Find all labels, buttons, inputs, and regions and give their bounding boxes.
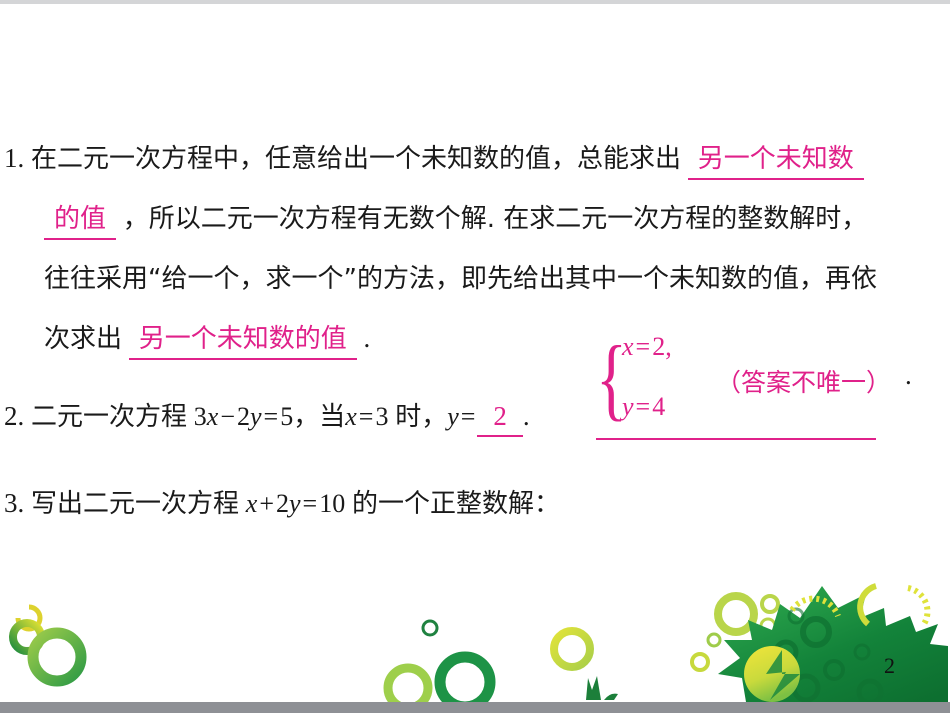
question-1-number: 1. (4, 143, 24, 173)
question-2-text-b: ，当 (293, 402, 345, 432)
ring-small-1 (13, 623, 41, 651)
ring-tiny-1 (423, 621, 437, 635)
question-3-period: . (905, 360, 912, 391)
q3-plus: + (257, 489, 276, 518)
ring-medium-2 (388, 668, 428, 702)
q2-cond-eq: = (357, 402, 376, 431)
leaf-ring-2 (776, 642, 796, 662)
sol-x-eq: = (634, 332, 653, 361)
question-3-answer-underline (596, 438, 876, 440)
q3-var1: x (246, 489, 258, 518)
question-1-answer-3[interactable]: 另一个未知数的值 (129, 322, 357, 360)
q2-var1: x (207, 402, 219, 431)
leaf-ring-4 (855, 645, 869, 659)
q2-cond-var: x (345, 402, 357, 431)
q2-equals: = (262, 402, 281, 431)
leaf-ring-7 (789, 609, 803, 623)
question-1-text-d: 次求出 (44, 324, 122, 354)
question-3-text-a: 写出二元一次方程 (31, 489, 239, 519)
footer-decoration (0, 582, 950, 702)
sol-y-var: y (622, 392, 634, 421)
leaf-ring-1 (803, 619, 829, 645)
question-3-answer-system[interactable]: { x=2, y=4 （答案不唯一） (596, 330, 896, 435)
q2-cond-val: 3 (375, 402, 388, 431)
question-1-answer-1[interactable]: 另一个未知数 (688, 142, 864, 180)
question-1-line-3: 往往采用“给一个，求一个”的方法，即先给出其中一个未知数的值，再依 (44, 248, 877, 309)
leaf-ring-5 (794, 676, 818, 700)
sol-x-val: 2 (652, 332, 665, 361)
ring-medium-5 (718, 596, 754, 632)
ring-medium-4 (554, 631, 590, 667)
arc-2 (860, 586, 876, 624)
grass-tuft (586, 676, 601, 700)
ring-tiny-5 (692, 654, 708, 670)
question-1-period: . (364, 323, 371, 353)
sol-y-val: 4 (652, 392, 665, 421)
question-3-text-b: 的一个正整数解： (352, 489, 560, 519)
question-2-number: 2. (4, 401, 24, 431)
question-1-line-1: 1. 在二元一次方程中，任意给出一个未知数的值，总能求出 另一个未知数 (4, 128, 864, 189)
question-2-line: 2. 二元一次方程 3x−2y=5，当x=3 时，y=2. (4, 386, 530, 447)
q3-coef2: 2 (276, 489, 289, 518)
yellow-sphere (744, 646, 800, 702)
ring-tiny-4 (708, 634, 720, 646)
sol-y-eq: = (634, 392, 653, 421)
page-number: 2 (884, 653, 895, 679)
question-1-text-b: ，所以二元一次方程有无数个解. 在求二元一次方程的整数解时， (123, 204, 868, 234)
ring-medium-3 (440, 657, 490, 702)
top-chrome-bar (0, 0, 950, 4)
q2-rhs: 5 (280, 402, 293, 431)
question-1-line-4: 次求出 另一个未知数的值 . (44, 308, 370, 369)
q2-ask-eq: = (459, 402, 478, 431)
ring-tiny-2 (762, 596, 778, 612)
q2-ask-var: y (447, 402, 459, 431)
question-2-answer[interactable]: 2 (477, 399, 523, 437)
q3-var2: y (289, 489, 301, 518)
maple-leaf-icon (718, 586, 948, 702)
sol-x-var: x (622, 332, 634, 361)
q2-coef2: 2 (237, 402, 250, 431)
solution-x-line: x=2, (622, 332, 672, 362)
question-2-period: . (523, 401, 530, 431)
q2-coef1: 3 (194, 402, 207, 431)
question-2-text-a: 二元一次方程 (31, 402, 187, 432)
solution-y-line: y=4 (622, 392, 665, 422)
question-2-text-c: 时， (395, 402, 447, 432)
leaf-overlay-shape (766, 650, 800, 700)
dotted-arc-1 (792, 599, 838, 616)
question-1-answer-2[interactable]: 的值 (44, 202, 116, 240)
bottom-chrome-bar (0, 702, 950, 713)
leaf-ring-3 (825, 661, 843, 679)
sol-x-comma: , (665, 332, 672, 361)
leaf-ring-6 (859, 681, 881, 702)
question-1-text-a: 在二元一次方程中，任意给出一个未知数的值，总能求出 (31, 144, 681, 174)
q2-minus: − (218, 402, 237, 431)
question-1-text-c: 往往采用“给一个，求一个”的方法，即先给出其中一个未知数的值，再依 (44, 264, 877, 294)
q3-equals: = (301, 489, 320, 518)
ring-tiny-3 (761, 619, 775, 633)
question-3-number: 3. (4, 488, 24, 518)
answer-not-unique-note: （答案不唯一） (716, 363, 891, 399)
q3-rhs: 10 (319, 489, 345, 518)
question-3-line: 3. 写出二元一次方程 x+2y=10 的一个正整数解： (4, 473, 560, 534)
ring-arc-left (18, 607, 40, 629)
dotted-arc-3 (908, 588, 927, 624)
question-1-line-2: 的值 ，所以二元一次方程有无数个解. 在求二元一次方程的整数解时， (44, 188, 867, 249)
grass-blade (604, 694, 618, 700)
ring-medium-1 (33, 633, 81, 681)
slide-canvas: 1. 在二元一次方程中，任意给出一个未知数的值，总能求出 另一个未知数 的值 ，… (0, 0, 950, 713)
q2-var2: y (250, 402, 262, 431)
